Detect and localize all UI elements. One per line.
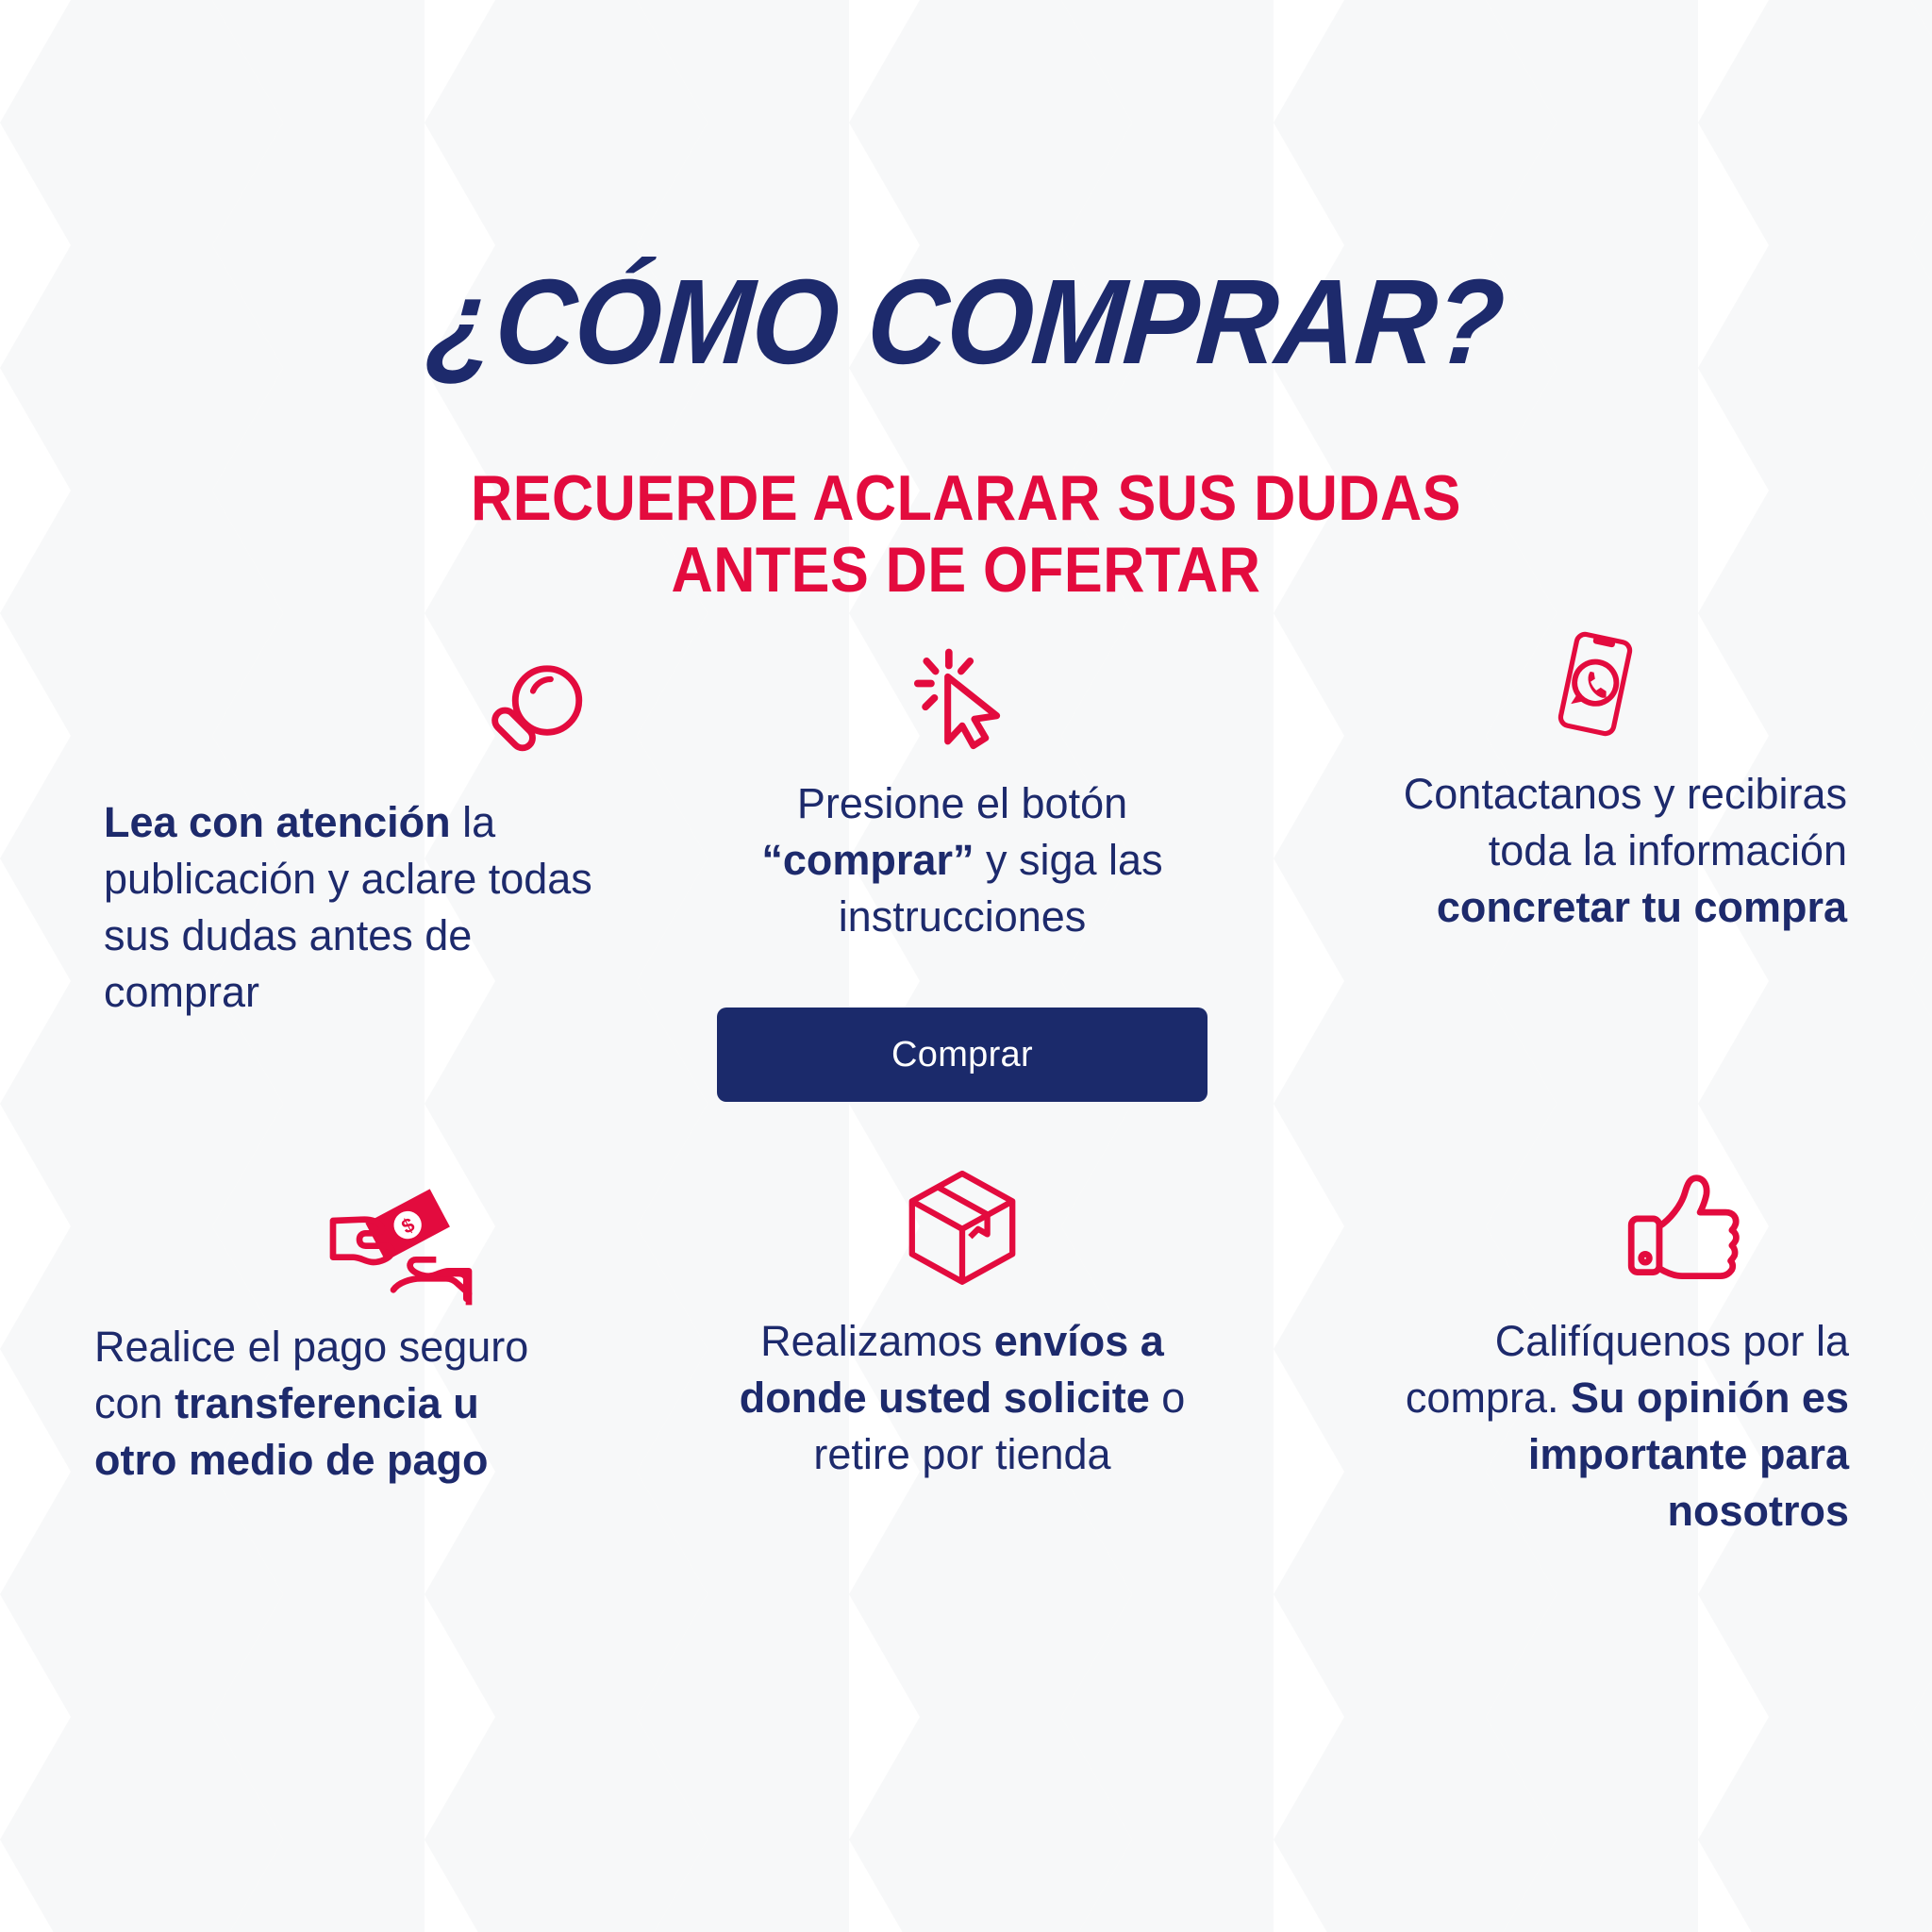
step-contact-us-text: Contactanos y recibiras toda la informac… [1338, 766, 1847, 936]
step-text-run-bold: concretar tu compra [1437, 883, 1847, 931]
magnifier-icon [476, 656, 594, 774]
whatsapp-phone-icon [1534, 623, 1657, 745]
subtitle-line-1: RECUERDE ACLARAR SUS DUDAS [96, 462, 1835, 534]
magnifier-icon-box [104, 651, 594, 774]
whatsapp-phone-icon-box [1338, 623, 1847, 745]
step-text-run-bold: Lea con atención [104, 798, 451, 846]
package-box-icon-box [717, 1141, 1207, 1292]
step-contact-us: Contactanos y recibiras toda la informac… [1338, 623, 1847, 936]
step-text-run-bold: “comprar” [761, 836, 974, 884]
page-subtitle: RECUERDE ACLARAR SUS DUDAS ANTES DE OFER… [0, 462, 1932, 606]
subtitle-line-2: ANTES DE OFERTAR [96, 534, 1835, 606]
step-secure-payment-text: Realice el pago seguro con transferencia… [94, 1319, 566, 1489]
cash-hand-icon-box: $ [94, 1160, 566, 1311]
step-text-run-bold: Su opinión es importante para nosotros [1528, 1374, 1849, 1535]
cash-hand-icon: $ [325, 1179, 476, 1311]
steps-grid: Lea con atención la publicación y aclare… [0, 651, 1932, 1594]
thumbs-up-icon [1616, 1160, 1743, 1292]
page-title: ¿CÓMO COMPRAR? [425, 262, 1508, 383]
page-title-wrapper: ¿CÓMO COMPRAR? [0, 262, 1932, 383]
thumbs-up-icon-box [1340, 1141, 1849, 1292]
step-press-buy-text: Presione el botón “comprar” y siga las i… [717, 775, 1207, 945]
infographic-page: ¿CÓMO COMPRAR? RECUERDE ACLARAR SUS DUDA… [0, 0, 1932, 1932]
step-text-run: Presione el botón [797, 779, 1127, 827]
step-shipping-text: Realizamos envíos a donde usted solicite… [717, 1313, 1207, 1483]
click-cursor-icon-box [717, 632, 1207, 755]
step-secure-payment: $ Realice el pago seguro con transferenc… [94, 1160, 566, 1489]
click-cursor-icon [907, 643, 1018, 755]
package-box-icon [896, 1160, 1028, 1292]
step-rate-us-text: Califíquenos por la compra. Su opinión e… [1340, 1313, 1849, 1539]
step-rate-us: Califíquenos por la compra. Su opinión e… [1340, 1141, 1849, 1539]
step-read-listing-text: Lea con atención la publicación y aclare… [104, 794, 594, 1020]
step-shipping: Realizamos envíos a donde usted solicite… [717, 1141, 1207, 1483]
comprar-button[interactable]: Comprar [717, 1008, 1207, 1102]
step-text-run: Contactanos y recibiras toda la informac… [1404, 770, 1847, 874]
step-text-run: Realizamos [760, 1317, 994, 1365]
step-read-listing: Lea con atención la publicación y aclare… [104, 651, 594, 1020]
step-press-buy: Presione el botón “comprar” y siga las i… [717, 632, 1207, 945]
